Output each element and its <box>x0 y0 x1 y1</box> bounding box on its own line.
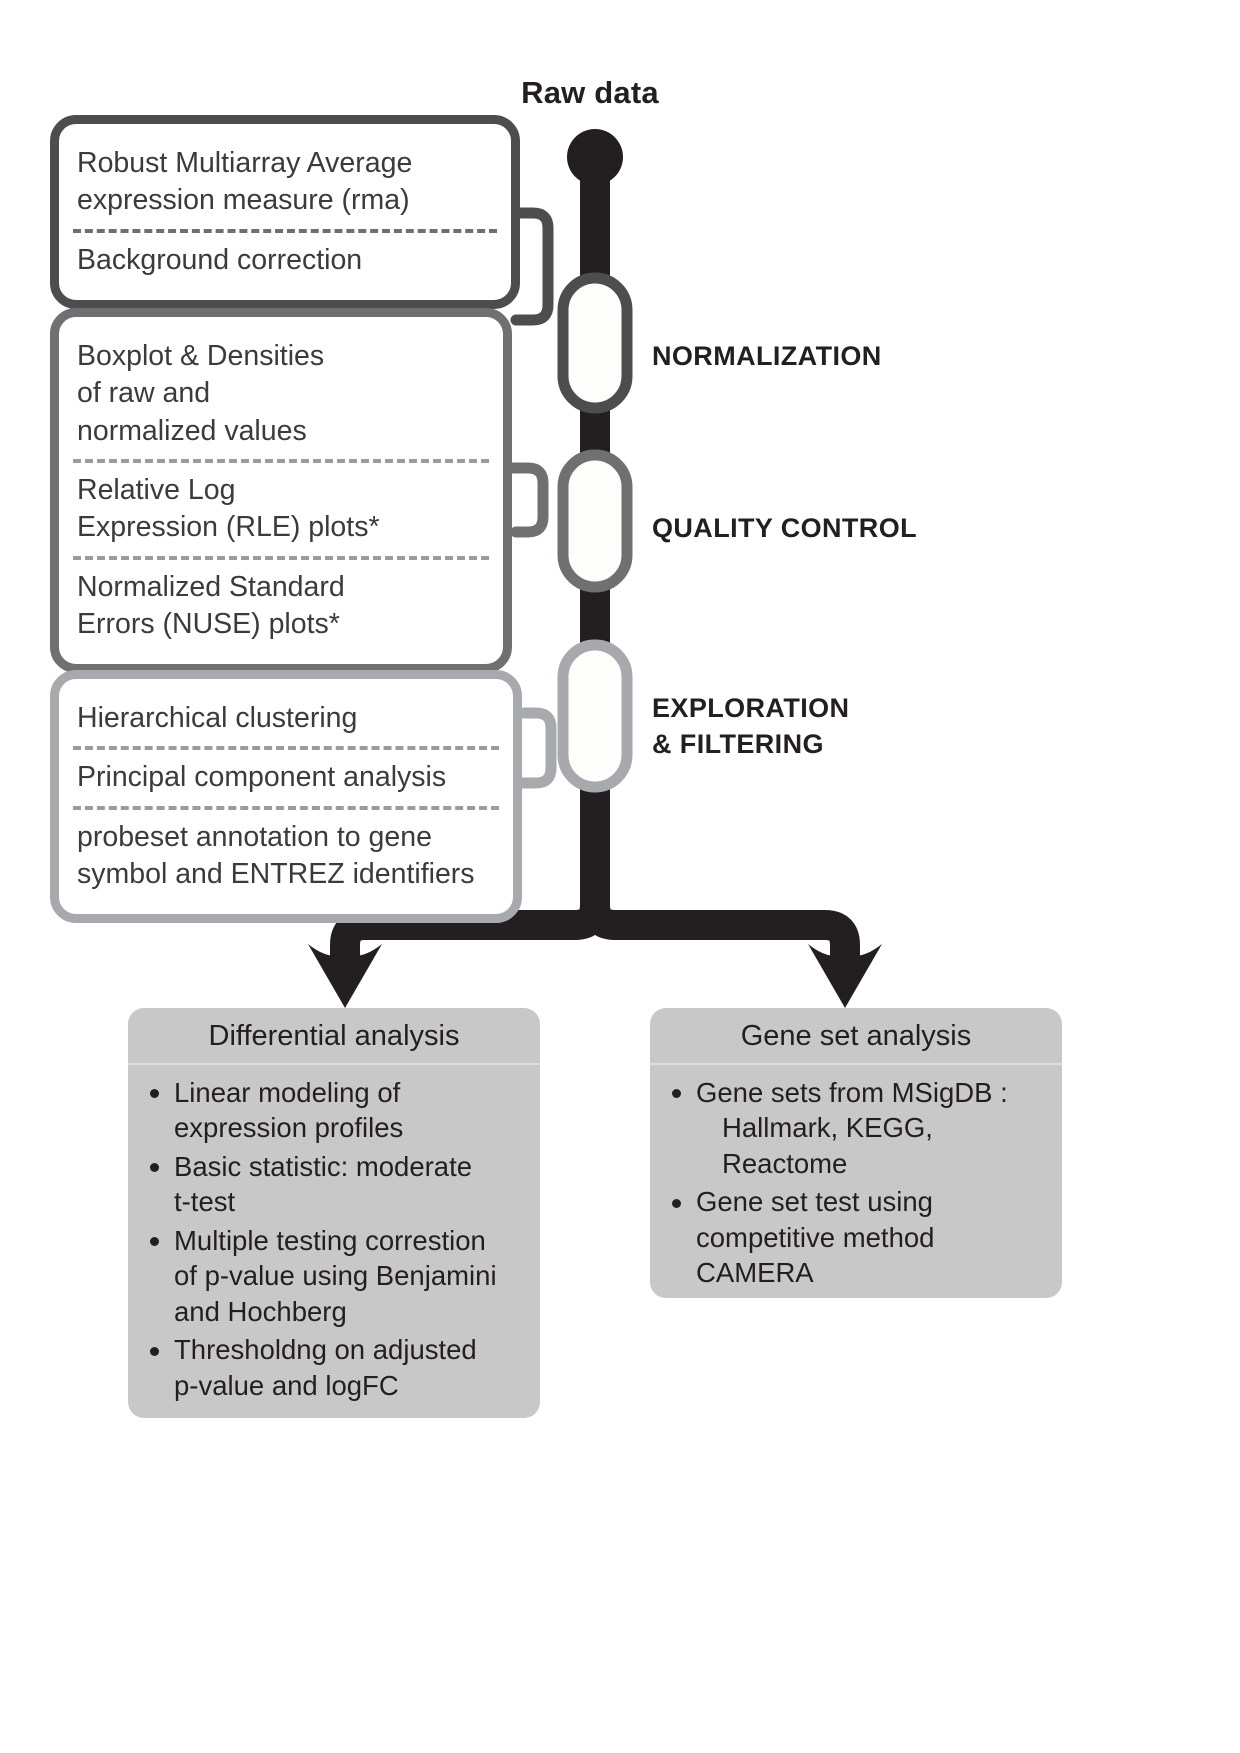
panel-title-differential: Differential analysis <box>128 1008 540 1065</box>
detail-line: of raw and <box>77 375 487 412</box>
bullet-line: expression profiles <box>174 1110 526 1145</box>
bullet-icon <box>150 1163 159 1172</box>
detail-line: Principal component analysis <box>77 759 497 796</box>
detail-line: Hierarchical clustering <box>77 700 497 737</box>
detail-item: Boxplot & Densities of raw and normalize… <box>59 329 503 459</box>
detail-item: probeset annotation to gene symbol and E… <box>59 810 513 903</box>
detail-item: Principal component analysis <box>59 750 513 805</box>
detail-line: Robust Multiarray Average <box>77 145 495 182</box>
bullet-line: and Hochberg <box>174 1294 526 1329</box>
detail-box-quality-control: Boxplot & Densities of raw and normalize… <box>50 308 512 673</box>
detail-line: symbol and ENTREZ identifiers <box>77 856 497 893</box>
detail-line: Boxplot & Densities <box>77 338 487 375</box>
list-item: Multiple testing correstion of p-value u… <box>142 1223 526 1329</box>
connector-quality-control <box>513 468 543 532</box>
bullet-icon <box>672 1199 681 1208</box>
bullet-line: Thresholdng on adjusted <box>174 1332 526 1367</box>
bullet-line: p-value and logFC <box>174 1368 526 1403</box>
branch-right-line <box>595 885 845 972</box>
detail-line: Errors (NUSE) plots* <box>77 606 487 643</box>
bullet-line: Multiple testing correstion <box>174 1223 526 1258</box>
detail-line: Expression (RLE) plots* <box>77 509 487 546</box>
list-item: Basic statistic: moderate t-test <box>142 1149 526 1220</box>
stage-label-line: & FILTERING <box>652 726 849 762</box>
detail-item: Hierarchical clustering <box>59 691 513 746</box>
bullet-line: Gene sets from MSigDB : <box>696 1077 1008 1108</box>
geneset-bullet-list: Gene sets from MSigDB : Hallmark, KEGG, … <box>650 1065 1062 1308</box>
list-item: Gene set test using competitive method C… <box>664 1184 1048 1290</box>
detail-box-normalization: Robust Multiarray Average expression mea… <box>50 115 520 309</box>
flowchart-diagram: Raw data Robust Multiarray Average expre… <box>0 0 1240 1753</box>
bullet-line: competitive method <box>696 1220 1048 1255</box>
result-panel-gene-set-analysis: Gene set analysis Gene sets from MSigDB … <box>650 1008 1062 1298</box>
stage-label-exploration-filtering: EXPLORATION & FILTERING <box>652 690 849 763</box>
detail-line: probeset annotation to gene <box>77 819 497 856</box>
detail-line: Normalized Standard <box>77 569 487 606</box>
bullet-line: t-test <box>174 1184 526 1219</box>
bullet-icon <box>150 1347 159 1356</box>
bullet-line: Basic statistic: moderate <box>174 1149 526 1184</box>
detail-item: Relative Log Expression (RLE) plots* <box>59 463 503 556</box>
list-item: Linear modeling of expression profiles <box>142 1075 526 1146</box>
detail-line: normalized values <box>77 413 487 450</box>
bullet-line: Linear modeling of <box>174 1075 526 1110</box>
detail-line: expression measure (rma) <box>77 182 495 219</box>
stage-capsule-exploration <box>563 645 627 787</box>
detail-item: Robust Multiarray Average expression mea… <box>59 136 511 229</box>
panel-title-geneset: Gene set analysis <box>650 1008 1062 1065</box>
detail-item: Background correction <box>59 233 511 288</box>
bullet-icon <box>150 1237 159 1246</box>
bullet-line: Hallmark, KEGG, <box>696 1110 1048 1145</box>
detail-item: Normalized Standard Errors (NUSE) plots* <box>59 560 503 653</box>
bullet-icon <box>672 1089 681 1098</box>
stage-label-quality-control: QUALITY CONTROL <box>652 510 917 546</box>
list-item: Thresholdng on adjusted p-value and logF… <box>142 1332 526 1403</box>
result-panel-differential-analysis: Differential analysis Linear modeling of… <box>128 1008 540 1418</box>
detail-line: Background correction <box>77 242 495 279</box>
bullet-line: Gene set test using <box>696 1184 1048 1219</box>
bullet-line: CAMERA <box>696 1255 1048 1290</box>
bullet-icon <box>150 1089 159 1098</box>
connector-exploration <box>521 713 551 783</box>
stage-capsule-quality-control <box>563 455 627 587</box>
bullet-line: Reactome <box>696 1146 1048 1181</box>
detail-line: Relative Log <box>77 472 487 509</box>
bullet-line: of p-value using Benjamini <box>174 1258 526 1293</box>
stage-label-normalization: NORMALIZATION <box>652 338 882 374</box>
detail-box-exploration-filtering: Hierarchical clustering Principal compon… <box>50 670 522 923</box>
raw-data-node-icon <box>567 129 623 185</box>
list-item: Gene sets from MSigDB : Hallmark, KEGG, … <box>664 1075 1048 1181</box>
stage-capsule-normalization <box>563 278 627 408</box>
stage-label-line: EXPLORATION <box>652 690 849 726</box>
differential-bullet-list: Linear modeling of expression profiles B… <box>128 1065 540 1420</box>
